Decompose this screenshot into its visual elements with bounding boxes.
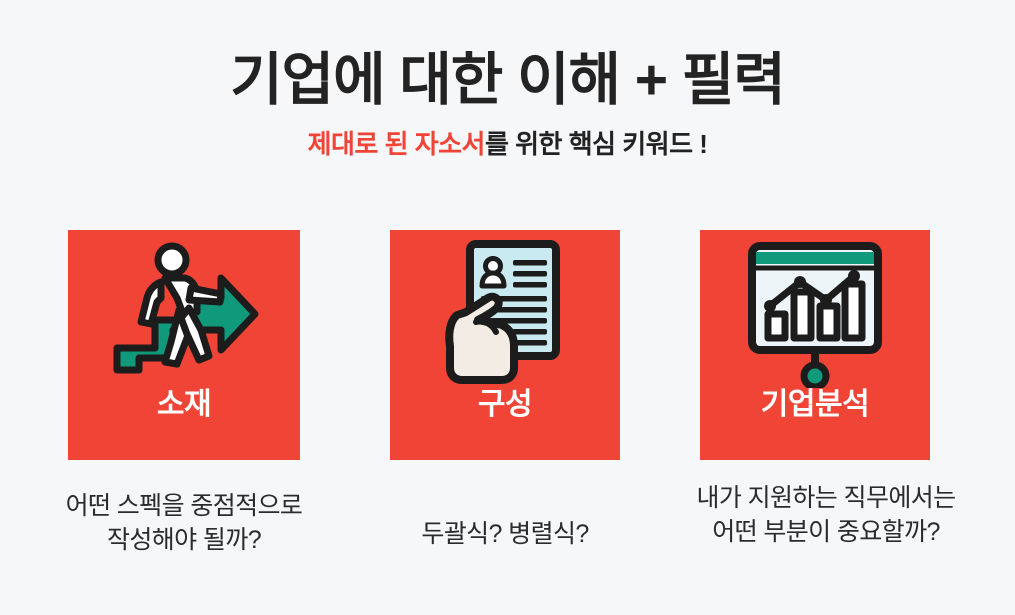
hand-holding-resume-icon	[390, 230, 620, 390]
caption-soiae: 어떤 스펙을 중점적으로 작성해야 될까?	[4, 490, 364, 558]
caption-row: 어떤 스펙을 중점적으로 작성해야 될까? 두괄식? 병렬식? 내가 지원하는 …	[0, 478, 1015, 588]
page-title: 기업에 대한 이해 + 필력	[0, 52, 1015, 109]
card-label: 기업분석	[761, 390, 869, 420]
subtitle-accent-text: 제대로 된 자소서	[308, 129, 485, 159]
card-label: 구성	[478, 390, 532, 420]
keyword-card-gieopbunseok[interactable]: 기업분석	[700, 230, 930, 460]
keyword-card-guseong[interactable]: 구성	[390, 230, 620, 460]
subtitle-plain-text: 를 위한 핵심 키워드 !	[485, 129, 707, 159]
card-label: 소재	[157, 390, 211, 420]
keyword-card-soiae[interactable]: 소재	[68, 230, 300, 460]
caption-line: 내가 지원하는 직무에서는	[645, 482, 1007, 516]
person-climbing-stairs-arrow-icon	[68, 230, 300, 390]
caption-gieopbunseok: 내가 지원하는 직무에서는 어떤 부분이 중요할까?	[645, 482, 1007, 550]
caption-guseong: 두괄식? 병렬식?	[380, 518, 630, 552]
header: 기업에 대한 이해 + 필력 제대로 된 자소서를 위한 핵심 키워드 !	[0, 52, 1015, 157]
infographic-page: 기업에 대한 이해 + 필력 제대로 된 자소서를 위한 핵심 키워드 !	[0, 0, 1015, 615]
caption-line: 두괄식? 병렬식?	[380, 518, 630, 552]
page-subtitle: 제대로 된 자소서를 위한 핵심 키워드 !	[0, 131, 1015, 157]
presentation-chart-board-icon	[700, 230, 930, 390]
caption-line: 어떤 부분이 중요할까?	[645, 516, 1007, 550]
caption-line: 작성해야 될까?	[4, 524, 364, 558]
keyword-card-row: 소재	[0, 230, 1015, 460]
caption-line: 어떤 스펙을 중점적으로	[4, 490, 364, 524]
